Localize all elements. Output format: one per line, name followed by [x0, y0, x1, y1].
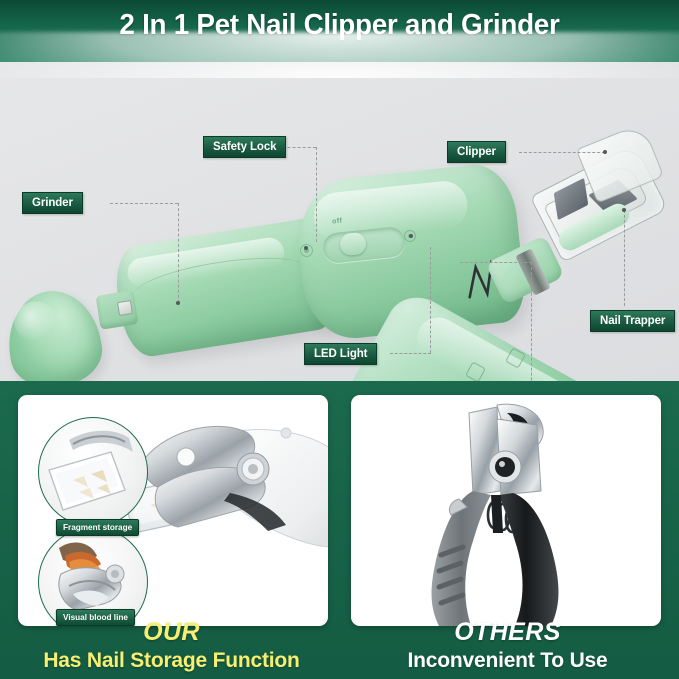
inset-fragment-storage — [38, 417, 148, 527]
others-clipper-illustration — [351, 395, 661, 626]
leader-dot-clipper — [603, 150, 607, 154]
others-title: OTHERS — [338, 617, 677, 647]
fragment-storage-image — [39, 418, 148, 527]
panel-other-product — [351, 395, 661, 626]
others-subtitle: Inconvenient To Use — [338, 647, 677, 675]
grinder-bit — [117, 300, 133, 316]
label-grinder[interactable]: Grinder — [22, 192, 83, 214]
panel-our-product: Fragment storage Visual blood line — [18, 395, 328, 626]
leader-trapper-v — [624, 210, 625, 306]
caption-visual-blood-line: Visual blood line — [56, 609, 135, 626]
label-nail-trapper[interactable]: Nail Trapper — [590, 310, 675, 332]
our-subtitle: Has Nail Storage Function — [2, 647, 341, 675]
caption-block-our: OUR Has Nail Storage Function — [2, 617, 341, 675]
leader-nailbox2-v — [531, 262, 532, 306]
caption-fragment-storage: Fragment storage — [56, 519, 139, 536]
leader-dot-grinder — [176, 301, 180, 305]
label-clipper[interactable]: Clipper — [447, 141, 506, 163]
leader-dot-trapper — [622, 208, 626, 212]
page-title: 2 In 1 Pet Nail Clipper and Grinder — [14, 9, 666, 42]
product-diagram: off — [0, 62, 679, 381]
leader-clipper-h — [519, 152, 605, 153]
product-infographic: 2 In 1 Pet Nail Clipper and Grinder off — [0, 0, 679, 679]
leader-grinder-h — [110, 203, 178, 204]
leader-led-v — [430, 247, 431, 353]
leader-nailbox-h — [460, 262, 532, 263]
leader-dot-led — [409, 234, 413, 238]
grinder-cap — [1, 284, 107, 381]
our-title: OUR — [2, 617, 341, 647]
leader-dot-safety — [304, 246, 308, 250]
leader-safety-v — [316, 147, 317, 242]
leader-led-h — [390, 353, 431, 354]
device-illustration: off — [0, 62, 679, 381]
leader-grinder-v — [178, 203, 179, 303]
label-safety-lock[interactable]: Safety Lock — [203, 136, 286, 158]
label-led-light[interactable]: LED Light — [304, 343, 377, 365]
leader-nailbox-v — [531, 304, 532, 381]
comparison-section: Fragment storage Visual blood line — [0, 381, 679, 679]
header-banner: 2 In 1 Pet Nail Clipper and Grinder — [0, 0, 679, 62]
caption-block-others: OTHERS Inconvenient To Use — [338, 617, 677, 675]
